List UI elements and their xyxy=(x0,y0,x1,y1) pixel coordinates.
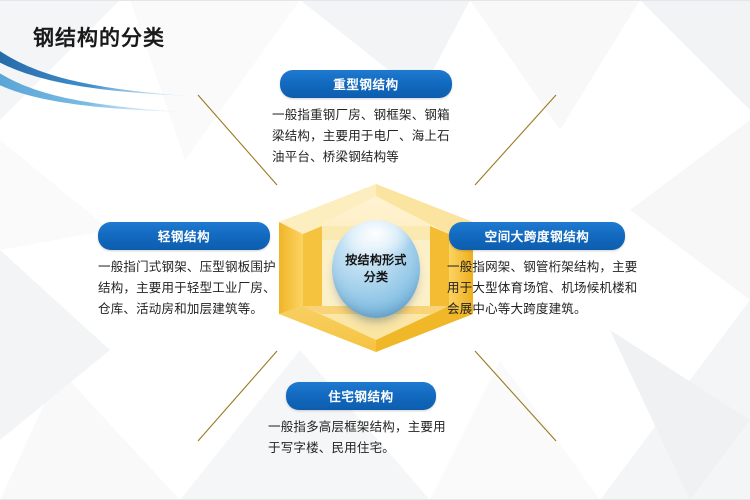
page-title: 钢结构的分类 xyxy=(33,22,165,52)
callout-label-long-span-steel[interactable]: 空间大跨度钢结构 xyxy=(449,222,625,250)
center-sphere: 按结构形式 分类 xyxy=(332,220,420,318)
callout-description-long-span-steel: 一般指网架、钢管桁架结构，主要用于大型体育场馆、机场候机楼和会展中心等大跨度建筑… xyxy=(447,257,639,320)
callout-description-light-steel: 一般指门式钢架、压型钢板围护结构，主要用于轻型工业厂房、仓库、活动房和加层建筑等… xyxy=(98,257,288,320)
callout-long-span-steel[interactable]: 空间大跨度钢结构 一般指网架、钢管桁架结构，主要用于大型体育场馆、机场候机楼和会… xyxy=(447,222,639,320)
slide-canvas: 钢结构的分类 xyxy=(0,0,750,500)
callout-residential-steel[interactable]: 住宅钢结构 一般指多高层框架结构，主要用于写字楼、民用住宅。 xyxy=(268,382,458,459)
callout-label-light-steel[interactable]: 轻钢结构 xyxy=(98,222,270,250)
callout-label-heavy-steel[interactable]: 重型钢结构 xyxy=(280,70,452,98)
callout-heavy-steel[interactable]: 重型钢结构 一般指重钢厂房、钢框架、钢箱梁结构，主要用于电厂、海上石油平台、桥梁… xyxy=(272,70,458,168)
center-hexagon-stage: 按结构形式 分类 xyxy=(277,182,475,354)
callout-light-steel[interactable]: 轻钢结构 一般指门式钢架、压型钢板围护结构，主要用于轻型工业厂房、仓库、活动房和… xyxy=(98,222,288,320)
top-divider xyxy=(0,0,750,1)
center-label-line2: 分类 xyxy=(364,269,389,286)
center-label-line1: 按结构形式 xyxy=(345,252,407,269)
callout-description-heavy-steel: 一般指重钢厂房、钢框架、钢箱梁结构，主要用于电厂、海上石油平台、桥梁钢结构等 xyxy=(272,105,458,168)
callout-description-residential-steel: 一般指多高层框架结构，主要用于写字楼、民用住宅。 xyxy=(268,417,458,459)
callout-label-residential-steel[interactable]: 住宅钢结构 xyxy=(286,382,436,410)
